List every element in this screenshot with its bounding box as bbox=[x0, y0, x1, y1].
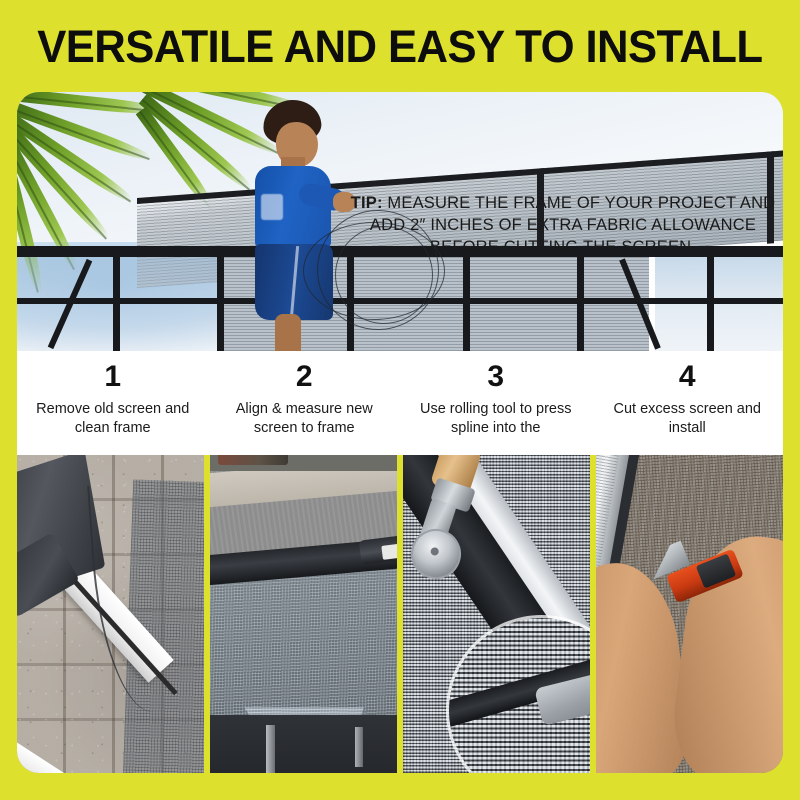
hero-photo: TIP: MEASURE THE FRAME OF YOUR PROJECT A… bbox=[17, 92, 783, 351]
tip-body: MEASURE THE FRAME OF YOUR PROJECT AND AD… bbox=[370, 194, 775, 256]
step-label-4: 4 Cut excess screen and install bbox=[592, 351, 784, 455]
step-photo-3 bbox=[403, 455, 590, 773]
step-caption: Align & measure new screen to frame bbox=[219, 400, 389, 438]
step-label-3: 3 Use rolling tool to press spline into … bbox=[400, 351, 592, 455]
step-caption: Cut excess screen and install bbox=[602, 400, 772, 438]
table-leg-secondary bbox=[355, 727, 363, 767]
step-number: 2 bbox=[296, 361, 313, 393]
step-label-1: 1 Remove old screen and clean frame bbox=[17, 351, 209, 455]
step-photo-row bbox=[17, 455, 783, 773]
tip-text: TIP: MEASURE THE FRAME OF YOUR PROJECT A… bbox=[343, 192, 783, 258]
tip-label: TIP: bbox=[351, 194, 383, 212]
header-bar: VERSATILE AND EASY TO INSTALL bbox=[0, 0, 800, 92]
step-label-2: 2 Align & measure new screen to frame bbox=[209, 351, 401, 455]
step-photo-4 bbox=[596, 455, 783, 773]
person-shirt-logo bbox=[261, 194, 283, 220]
step-caption: Remove old screen and clean frame bbox=[28, 400, 198, 438]
step-photo-2 bbox=[210, 455, 397, 773]
step-photo-1 bbox=[17, 455, 204, 773]
step-number: 4 bbox=[679, 361, 696, 393]
parked-vehicle bbox=[218, 455, 288, 465]
infographic-root: VERSATILE AND EASY TO INSTALL bbox=[0, 0, 800, 800]
hero-panel: TIP: MEASURE THE FRAME OF YOUR PROJECT A… bbox=[17, 92, 783, 351]
step-number: 1 bbox=[104, 361, 121, 393]
tip-callout: TIP: MEASURE THE FRAME OF YOUR PROJECT A… bbox=[343, 192, 783, 258]
person-leg bbox=[275, 314, 301, 351]
step-caption: Use rolling tool to press spline into th… bbox=[411, 400, 581, 438]
table-leg bbox=[266, 725, 275, 773]
page-title: VERSATILE AND EASY TO INSTALL bbox=[37, 24, 762, 69]
driveway-ground bbox=[210, 715, 397, 773]
fingernail bbox=[596, 577, 600, 610]
step-number: 3 bbox=[487, 361, 504, 393]
steps-label-band: 1 Remove old screen and clean frame 2 Al… bbox=[17, 351, 783, 455]
